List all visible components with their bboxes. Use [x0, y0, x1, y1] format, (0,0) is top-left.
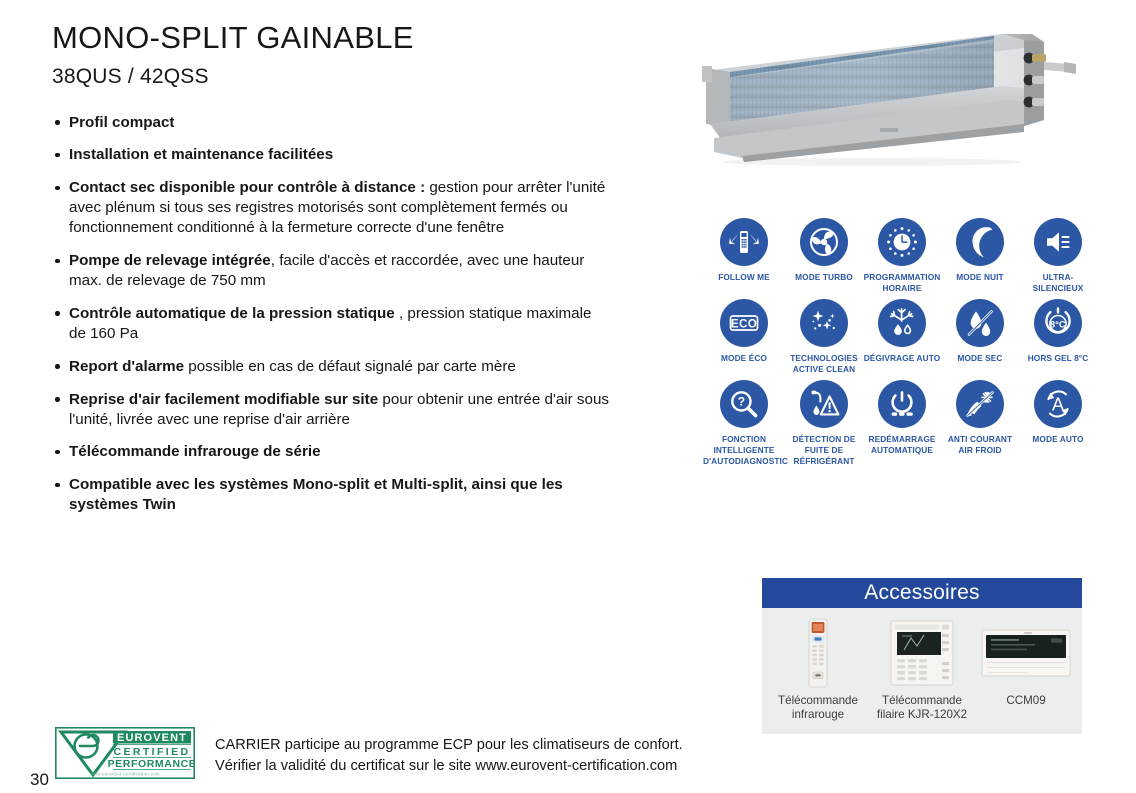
feature-icon-label: MODE NUIT: [956, 272, 1003, 283]
feature-detail-text: possible en cas de défaut signalé par ca…: [184, 358, 516, 375]
accessory-item: Télécommande infrarouge: [769, 617, 867, 723]
product-model: 38QUS / 42QSS: [52, 65, 612, 89]
footer-text-line2: Vérifier la validité du certificat sur l…: [215, 756, 775, 777]
feature-bold-text: Report d'alarme: [69, 358, 184, 375]
accessory-caption: Télécommande infrarouge: [769, 694, 867, 723]
fan-turbo-icon: [800, 218, 848, 266]
page-number: 30: [30, 770, 49, 790]
feature-icon-cell-sparkle-clean: TECHNOLOGIES ACTIVE CLEAN: [785, 299, 863, 374]
svg-text:CERTIFIED: CERTIFIED: [113, 746, 190, 758]
feature-item-telecommande-ir: Télécommande infrarouge de série: [52, 442, 612, 462]
leak-detection-icon: [800, 380, 848, 428]
feature-icon-cell-dry-mode: MODE SEC: [941, 299, 1019, 374]
auto-mode-icon: A: [1034, 380, 1082, 428]
feature-item-report-alarme: Report d'alarme possible en cas de défau…: [52, 357, 612, 377]
feature-icon-cell-fan-turbo: MODE TURBO: [785, 218, 863, 293]
left-content-column: MONO-SPLIT GAINABLE 38QUS / 42QSS Profil…: [52, 22, 612, 528]
feature-icon-label: ANTI COURANT AIR FROID: [941, 434, 1019, 455]
feature-item-pompe-relevage: Pompe de relevage intégrée, facile d'acc…: [52, 251, 612, 291]
svg-text:?: ?: [738, 395, 745, 409]
accessoires-title: Accessoires: [762, 578, 1082, 608]
feature-icon-cell-auto-mode: AMODE AUTO: [1019, 380, 1097, 466]
ir-remote-image: [805, 617, 831, 689]
page-title: MONO-SPLIT GAINABLE: [52, 22, 612, 55]
feature-item-controle-pression: Contrôle automatique de la pression stat…: [52, 304, 612, 344]
dry-mode-icon: [956, 299, 1004, 347]
accessoires-panel: Accessoires Télécommande infrarougeTéléc…: [762, 578, 1082, 734]
accessory-caption: CCM09: [1006, 694, 1045, 708]
footer-text-line1: CARRIER participe au programme ECP pour …: [215, 735, 775, 756]
feature-bold-text: Télécommande infrarouge de série: [69, 443, 321, 460]
feature-icon-label: ULTRA-SILENCIEUX: [1019, 272, 1097, 293]
svg-text:ECO: ECO: [731, 318, 757, 331]
auto-restart-icon: [878, 380, 926, 428]
feature-item-profil-compact: Profil compact: [52, 113, 612, 133]
feature-icon-cell-self-diagnostic: ?FONCTION INTELLIGENTE D'AUTODIAGNOSTIC: [703, 380, 785, 466]
follow-me-icon: [720, 218, 768, 266]
feature-icon-label: FONCTION INTELLIGENTE D'AUTODIAGNOSTIC: [703, 434, 785, 466]
accessory-item: Télécommande filaire KJR-120X2: [873, 617, 971, 723]
feature-item-contact-sec: Contact sec disponible pour contrôle à d…: [52, 178, 612, 238]
feature-icon-label: FOLLOW ME: [718, 272, 770, 283]
feature-item-installation-maintenance: Installation et maintenance facilitées: [52, 145, 612, 165]
ccm09-image: [981, 617, 1071, 689]
accessoires-items: Télécommande infrarougeTélécommande fila…: [762, 608, 1082, 734]
feature-icon-cell-auto-restart: REDÉMARRAGE AUTOMATIQUE: [863, 380, 941, 466]
feature-icon-cell-snowflake-defrost: DÉGIVRAGE AUTO: [863, 299, 941, 374]
footer-text: CARRIER participe au programme ECP pour …: [215, 735, 775, 776]
footer: EUROVENT CERTIFIED PERFORMANCE www.eurov…: [55, 727, 755, 787]
feature-icon-cell-clock-schedule: PROGRAMMATION HORAIRE: [863, 218, 941, 293]
eurovent-certified-logo: EUROVENT CERTIFIED PERFORMANCE www.eurov…: [55, 727, 195, 779]
sparkle-clean-icon: [800, 299, 848, 347]
eurovent-url: www.eurovent-certification.com: [90, 772, 160, 777]
feature-bold-text: Compatible avec les systèmes Mono-split …: [69, 476, 563, 513]
feature-icon-cell-anti-cold-draft: ANTI COURANT AIR FROID: [941, 380, 1019, 466]
feature-icon-label: HORS GEL 8°C: [1028, 353, 1089, 364]
brochure-page: MONO-SPLIT GAINABLE 38QUS / 42QSS Profil…: [0, 0, 1136, 793]
svg-text:EUROVENT: EUROVENT: [117, 732, 187, 744]
self-diagnostic-icon: ?: [720, 380, 768, 428]
feature-icon-label: DÉTECTION DE FUITE DE RÉFRIGÉRANT: [785, 434, 863, 466]
speaker-quiet-icon: [1034, 218, 1082, 266]
accessory-caption: Télécommande filaire KJR-120X2: [873, 694, 971, 723]
feature-item-compatible-systemes: Compatible avec les systèmes Mono-split …: [52, 475, 612, 515]
feature-bold-text: Pompe de relevage intégrée: [69, 252, 271, 269]
feature-icon-label: TECHNOLOGIES ACTIVE CLEAN: [785, 353, 863, 374]
feature-icon-grid: FOLLOW MEMODE TURBOPROGRAMMATION HORAIRE…: [703, 218, 1097, 466]
feature-icon-label: MODE TURBO: [795, 272, 853, 283]
feature-icon-label: REDÉMARRAGE AUTOMATIQUE: [863, 434, 941, 455]
anti-cold-draft-icon: [956, 380, 1004, 428]
svg-text:8°C: 8°C: [1050, 319, 1066, 330]
clock-schedule-icon: [878, 218, 926, 266]
feature-icon-cell-speaker-quiet: ULTRA-SILENCIEUX: [1019, 218, 1097, 293]
feature-icon-cell-follow-me: FOLLOW ME: [703, 218, 785, 293]
feature-bold-text: Profil compact: [69, 114, 175, 131]
feature-icon-label: MODE SEC: [957, 353, 1002, 364]
snowflake-defrost-icon: [878, 299, 926, 347]
feature-bold-text: Contrôle automatique de la pression stat…: [69, 305, 395, 322]
product-photo: [672, 28, 1092, 188]
svg-text:PERFORMANCE: PERFORMANCE: [108, 758, 195, 770]
feature-icon-label: MODE ÉCO: [721, 353, 767, 364]
feature-icon-label: PROGRAMMATION HORAIRE: [863, 272, 941, 293]
feature-icon-cell-leak-detection: DÉTECTION DE FUITE DE RÉFRIGÉRANT: [785, 380, 863, 466]
feature-icon-label: DÉGIVRAGE AUTO: [864, 353, 941, 364]
features-list: Profil compactInstallation et maintenanc…: [52, 113, 612, 516]
moon-night-icon: [956, 218, 1004, 266]
eco-mode-icon: ECO: [720, 299, 768, 347]
wired-remote-image: [890, 617, 954, 689]
feature-icon-cell-eco-mode: ECOMODE ÉCO: [703, 299, 785, 374]
feature-bold-text: Contact sec disponible pour contrôle à d…: [69, 179, 425, 196]
feature-icon-label: MODE AUTO: [1032, 434, 1083, 445]
feature-icon-cell-moon-night: MODE NUIT: [941, 218, 1019, 293]
feature-icon-cell-antifreeze-8c: 8°CHORS GEL 8°C: [1019, 299, 1097, 374]
feature-item-reprise-air: Reprise d'air facilement modifiable sur …: [52, 390, 612, 430]
accessory-item: CCM09: [977, 617, 1075, 708]
antifreeze-8c-icon: 8°C: [1034, 299, 1082, 347]
feature-bold-text: Installation et maintenance facilitées: [69, 146, 333, 163]
feature-bold-text: Reprise d'air facilement modifiable sur …: [69, 391, 378, 408]
